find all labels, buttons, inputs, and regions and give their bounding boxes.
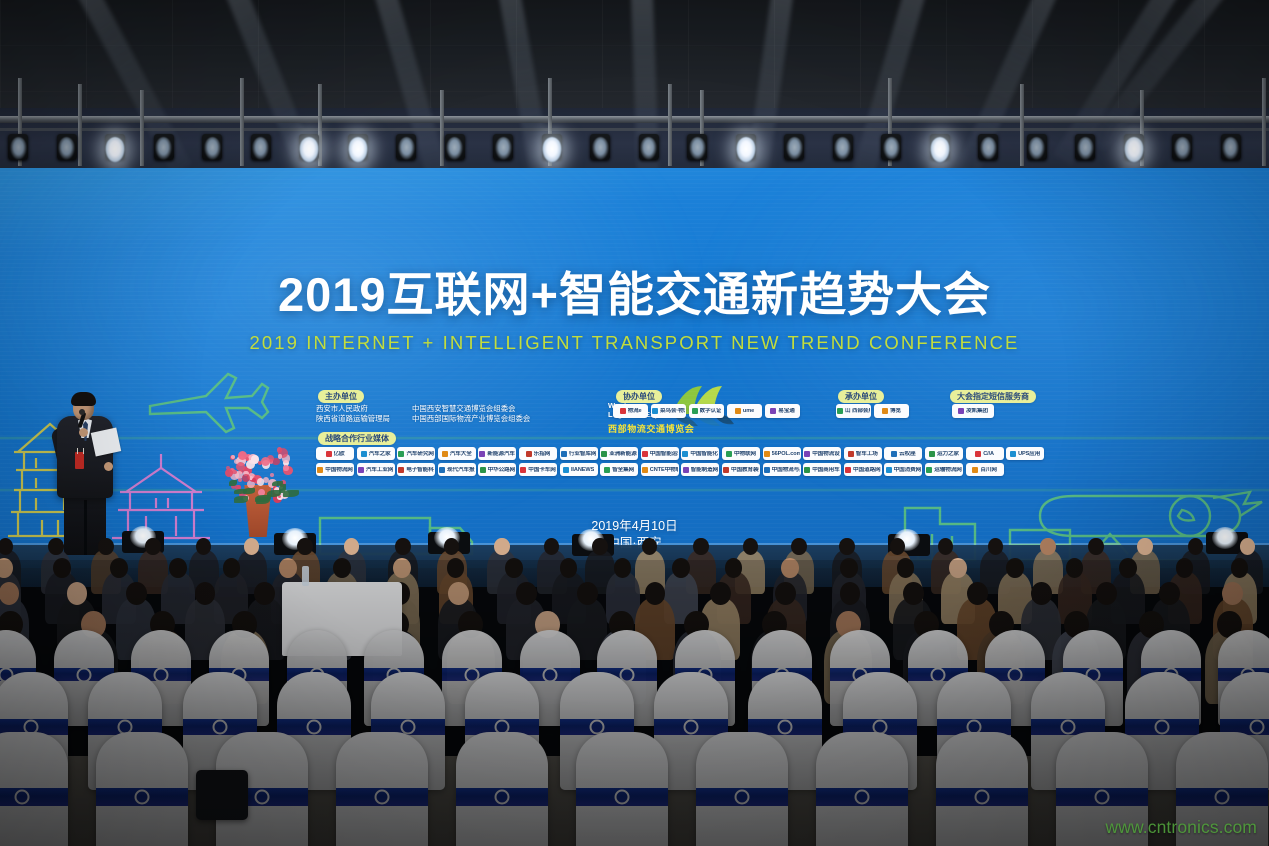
chair-shading <box>0 732 68 846</box>
spotlight-bulb <box>348 137 368 163</box>
sponsor-logo: 汽车大全 <box>438 447 476 460</box>
host-entry-4: 中国西部国际物流产业博览会组委会 <box>412 414 530 424</box>
audience-head <box>145 538 161 555</box>
chair-shading <box>96 732 188 846</box>
water-bottle <box>302 566 309 586</box>
audience-head <box>840 558 858 578</box>
audience-chair <box>936 732 1028 846</box>
spotlight-bulb <box>1077 137 1094 160</box>
sponsor-logo: 智能制造网 <box>681 463 719 476</box>
sponsor-logo: 中国智能运输网 <box>641 447 679 460</box>
audience-head <box>710 582 731 605</box>
spotlight-bulb <box>1174 137 1191 160</box>
audience-head <box>1159 582 1180 605</box>
truss-post <box>440 90 444 166</box>
audience-head <box>393 558 411 578</box>
sponsor-logo: 现代汽车报 <box>438 463 476 476</box>
watermark: www.cntronics.com <box>1106 817 1257 838</box>
spotlight-bulb <box>446 137 463 160</box>
audience-head <box>903 582 924 605</box>
led-backdrop-screen: WesternLogistics Expo 西部物流交通博览会 <box>0 168 1269 568</box>
spotlight-bulb <box>1222 137 1239 160</box>
audience-head <box>725 558 743 578</box>
audience-head <box>126 582 147 605</box>
sponsor-logo: 中国物流与采购网 <box>763 463 801 476</box>
floor-bag <box>196 770 248 820</box>
flower-petal <box>257 478 265 486</box>
spotlight-bulb <box>640 137 657 160</box>
sponsor-logo: 中国物流网 <box>316 463 354 476</box>
spotlight-bulb <box>786 137 803 160</box>
audience-head <box>254 582 275 605</box>
chair-shading <box>456 732 548 846</box>
sponsor-logo: 运输物流网 <box>925 463 963 476</box>
flower-petal <box>232 470 236 474</box>
audience-chair <box>336 732 428 846</box>
truss-post <box>668 84 672 166</box>
sponsor-logo: 百川网 <box>966 463 1004 476</box>
flower-petal <box>246 460 255 469</box>
sponsor-logo: ume <box>727 404 762 418</box>
sponsor-logo: 菜鸟会·物流 <box>651 404 686 418</box>
sponsor-logo: C//A <box>966 447 1004 460</box>
sponsor-logo: 电子智能科技网 <box>397 463 435 476</box>
flower-leaf <box>229 480 237 486</box>
spotlight-bulb <box>689 137 706 160</box>
audience-head <box>279 558 297 578</box>
sponsor-logo: 智全集网 <box>600 463 638 476</box>
lighting-truss-lower <box>0 128 1269 131</box>
audience-head <box>967 582 988 605</box>
spotlight-bulb <box>252 137 269 160</box>
sponsor-logo: 数字认证 <box>689 404 724 418</box>
flower-petal <box>261 457 270 466</box>
sponsor-logo: 中国商用车网 <box>803 463 841 476</box>
sponsor-logo: 易宝通 <box>765 404 800 418</box>
spotlight-bulb <box>10 137 27 160</box>
chair-shading <box>336 732 428 846</box>
audience-head <box>577 582 598 605</box>
sponsor-logo: 中国智能化网 <box>681 447 719 460</box>
truss-post <box>78 84 82 166</box>
audience-head <box>949 558 967 578</box>
audience-head <box>672 558 690 578</box>
label-host: 主办单位 <box>318 390 364 403</box>
sponsor-logo: 行业智库网 <box>560 447 598 460</box>
audience-chair <box>576 732 668 846</box>
audience-head <box>505 558 523 578</box>
spotlight-bulb <box>883 137 900 160</box>
audience-head <box>53 558 71 578</box>
spotlight-bulb <box>542 137 562 163</box>
sponsor-logo: IIANEWS <box>560 463 598 476</box>
spotlight-bulb <box>980 137 997 160</box>
host-entry-2: 陕西省道路运输管理局 <box>316 414 390 424</box>
chair-shading <box>936 732 1028 846</box>
lighting-truss <box>0 116 1269 123</box>
flower-petal <box>270 473 274 477</box>
conference-title-cn: 2019互联网+智能交通新趋势大会 <box>0 268 1269 322</box>
sponsor-logo: 中国物流设备网 <box>803 447 841 460</box>
audience-area <box>0 520 1269 846</box>
sponsor-logo: 亿欧 <box>316 447 354 460</box>
label-co-host: 协办单位 <box>616 390 662 403</box>
spotlight-bulb <box>1028 137 1045 160</box>
audience-head <box>1031 582 1052 605</box>
flower-petal <box>252 478 256 482</box>
audience-chair <box>456 732 548 846</box>
audience-head <box>110 558 128 578</box>
spotlight-bulb <box>204 137 221 160</box>
flower-petal <box>278 454 282 458</box>
sponsor-logo: 乐指网 <box>519 447 557 460</box>
audience-head <box>223 558 241 578</box>
audience-head <box>839 538 855 555</box>
spotlight-bulb <box>592 137 609 160</box>
spotlight-bulb <box>930 137 950 163</box>
truss-post <box>140 90 144 166</box>
conference-title-en: 2019 INTERNET + INTELLIGENT TRANSPORT NE… <box>0 332 1269 354</box>
led-scanlines <box>0 168 1269 568</box>
audience-head <box>693 538 709 555</box>
sponsor-logo: 新能源汽车网 <box>478 447 516 460</box>
audience-head <box>333 558 351 578</box>
audience-head <box>448 582 469 605</box>
audience-head <box>840 582 861 605</box>
chair-shading <box>816 732 908 846</box>
sponsor-logo: 汽车之家 <box>357 447 395 460</box>
audience-head <box>169 558 187 578</box>
spotlight-bulb <box>155 137 172 160</box>
label-media: 战略合作行业媒体 <box>318 432 396 445</box>
host-entry-3: 中国西安智慧交通博览会组委会 <box>412 404 515 414</box>
sponsor-logo: 博览 <box>874 404 909 418</box>
sponsor-logo: 汽车研究网 <box>397 447 435 460</box>
conference-photo: WesternLogistics Expo 西部物流交通博览会 2019互联网+… <box>0 0 1269 846</box>
spotlight-bulb <box>495 137 512 160</box>
sponsor-logo: 亚洲新能源汽车网 <box>600 447 638 460</box>
host-entry-1: 西安市人民政府 <box>316 404 368 414</box>
audience-head <box>395 538 411 555</box>
sponsor-logo: 中国消费网 <box>884 463 922 476</box>
sponsor-logo: 中物联网 <box>722 447 760 460</box>
sponsor-logo: UPS应用 <box>1006 447 1044 460</box>
audience-head <box>1096 582 1117 605</box>
spotlight-bulb <box>105 137 125 163</box>
audience-chair <box>696 732 788 846</box>
truss-post <box>1262 78 1266 166</box>
audience-head <box>516 582 537 605</box>
sponsor-logo: 中国卡车网 <box>519 463 557 476</box>
audience-chair <box>0 732 68 846</box>
flower-petal <box>231 455 235 459</box>
truss-post <box>1020 84 1024 166</box>
spotlight-bulb <box>1124 137 1144 163</box>
label-sms-provider: 大会指定短信服务商 <box>950 390 1036 403</box>
flower-leaf <box>234 496 248 502</box>
chair-shading <box>576 732 668 846</box>
truss-post <box>240 78 244 166</box>
audience-head <box>1119 558 1137 578</box>
sponsor-logo: 中国教育装备网 <box>722 463 760 476</box>
audience-head <box>1222 582 1243 605</box>
spotlight-bulb <box>299 137 319 163</box>
audience-chair <box>816 732 908 846</box>
sponsor-logo: 智车工场 <box>844 447 882 460</box>
flower-arrangement <box>224 447 294 499</box>
sponsor-logo: 云权座 <box>884 447 922 460</box>
spotlight-bulb <box>736 137 756 163</box>
spotlight-bulb <box>398 137 415 160</box>
sponsor-logo: 中国道路网 <box>844 463 882 476</box>
audience-head <box>1137 538 1153 555</box>
audience-head <box>775 582 796 605</box>
sponsor-logo: 物流e <box>613 404 648 418</box>
sponsor-logo: 运力之家 <box>925 447 963 460</box>
sponsor-logo: 汽车工业网 <box>357 463 395 476</box>
sponsor-logo: 56POL.com 国际货运 <box>763 447 801 460</box>
spotlight-bulb <box>834 137 851 160</box>
audience-head <box>48 538 64 555</box>
chair-shading <box>696 732 788 846</box>
sponsor-logo: 中华公路网 <box>478 463 516 476</box>
audience-head <box>791 538 807 555</box>
flower-petal <box>283 465 288 470</box>
spotlight-bulb <box>58 137 75 160</box>
sponsor-logo: 山 西部会展 <box>836 404 871 418</box>
flower-leaf <box>243 488 255 494</box>
audience-chair <box>96 732 188 846</box>
label-organizer: 承办单位 <box>838 390 884 403</box>
audience-head <box>494 538 510 555</box>
sponsor-logo: CNTE中物联 <box>641 463 679 476</box>
audience-head <box>297 538 313 555</box>
sponsor-logo: 凌凯集团 <box>952 404 994 418</box>
